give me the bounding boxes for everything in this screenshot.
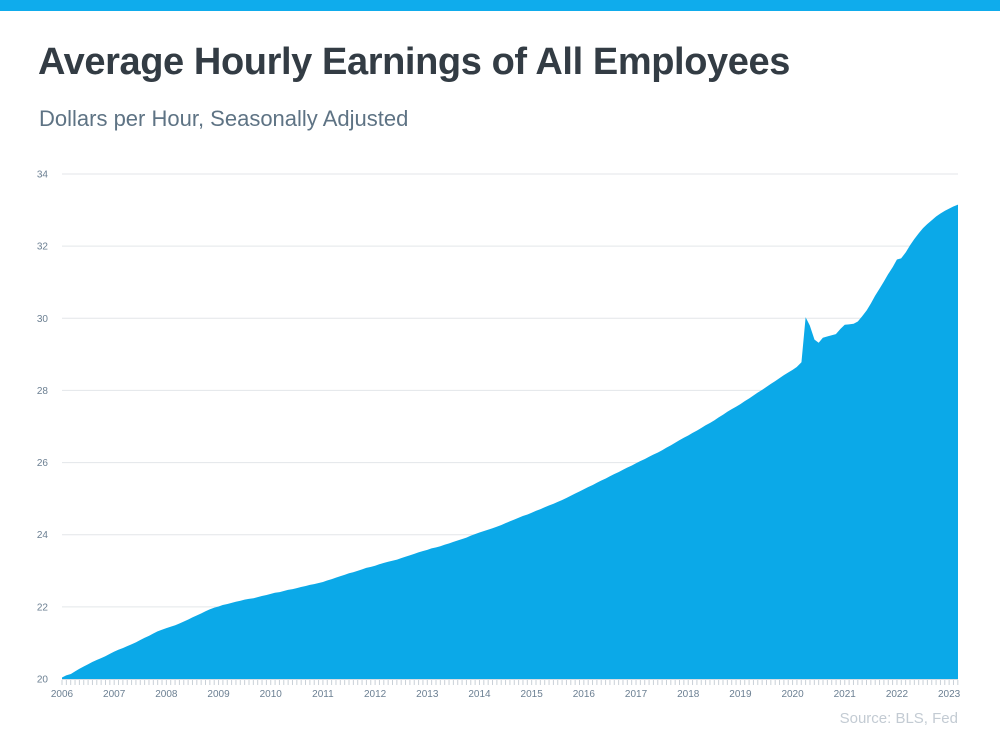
- svg-text:30: 30: [37, 314, 49, 325]
- svg-text:20: 20: [37, 675, 49, 686]
- svg-text:2012: 2012: [364, 689, 387, 700]
- svg-text:2011: 2011: [312, 689, 334, 700]
- svg-text:2007: 2007: [103, 689, 126, 700]
- svg-text:2013: 2013: [416, 689, 439, 700]
- svg-text:2006: 2006: [51, 689, 74, 700]
- svg-text:26: 26: [37, 458, 49, 469]
- svg-text:34: 34: [37, 170, 49, 181]
- svg-text:2008: 2008: [155, 689, 178, 700]
- source-note: Source: BLS, Fed: [840, 710, 958, 727]
- svg-text:2014: 2014: [468, 689, 491, 700]
- svg-text:2020: 2020: [781, 689, 804, 700]
- svg-text:2021: 2021: [834, 689, 857, 700]
- svg-text:32: 32: [37, 242, 49, 253]
- svg-text:2017: 2017: [625, 689, 648, 700]
- svg-text:2010: 2010: [260, 689, 283, 700]
- svg-text:24: 24: [37, 530, 49, 541]
- svg-text:2019: 2019: [729, 689, 752, 700]
- svg-text:22: 22: [37, 602, 49, 613]
- svg-text:28: 28: [37, 386, 49, 397]
- svg-text:2022: 2022: [886, 689, 909, 700]
- svg-text:2016: 2016: [573, 689, 596, 700]
- svg-text:2009: 2009: [207, 689, 230, 700]
- minor-x-ticks: [62, 680, 958, 685]
- earnings-area-fill: [62, 205, 958, 679]
- area-chart: 3432302826242220200620072008200920102011…: [0, 0, 1000, 750]
- svg-text:2018: 2018: [677, 689, 700, 700]
- svg-text:2023: 2023: [938, 689, 961, 700]
- svg-text:2015: 2015: [521, 689, 544, 700]
